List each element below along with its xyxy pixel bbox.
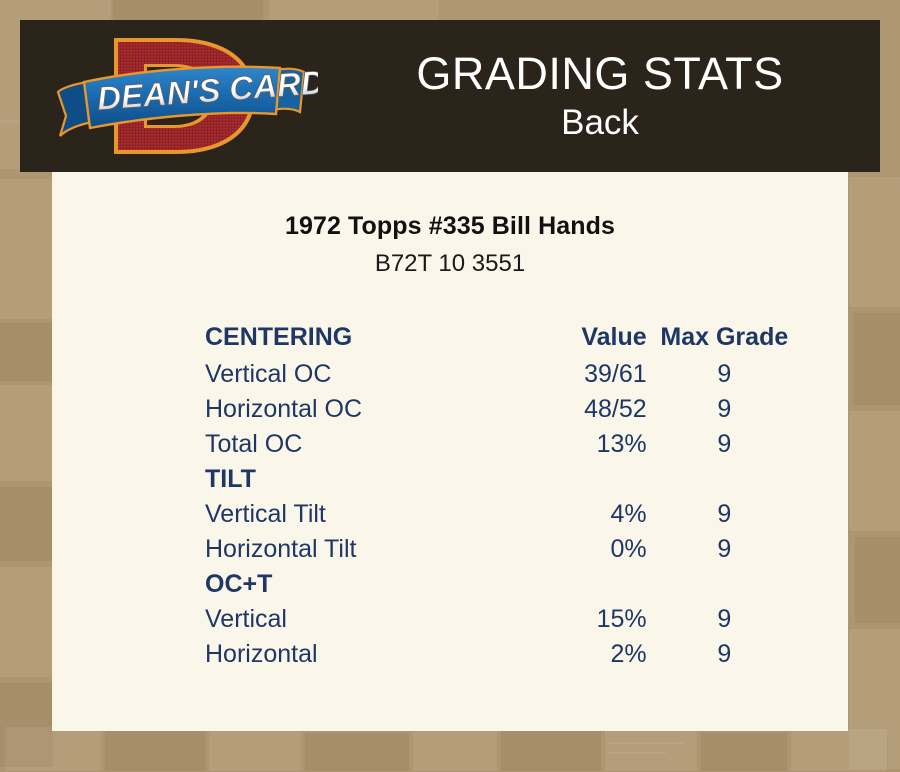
row-value: 4% <box>519 497 647 532</box>
grading-stats-table: CENTERING Value Max Grade Vertical OC 39… <box>52 317 848 672</box>
table-row: Vertical OC 39/61 9 <box>52 357 848 392</box>
row-grade: 9 <box>647 497 848 532</box>
row-value: 48/52 <box>519 392 647 427</box>
section-label: TILT <box>52 462 519 497</box>
column-header-max-grade: Max Grade <box>647 317 848 357</box>
section-label: OC+T <box>52 567 519 602</box>
page-title: GRADING STATS <box>416 48 783 100</box>
row-label: Vertical Tilt <box>52 497 519 532</box>
table-row: Horizontal Tilt 0% 9 <box>52 532 848 567</box>
row-grade: 9 <box>647 532 848 567</box>
row-value: 39/61 <box>519 357 647 392</box>
deans-cards-logo[interactable]: DEAN'S CARDS <box>48 26 318 166</box>
row-label: Vertical OC <box>52 357 519 392</box>
section-header-oc-plus-t: OC+T <box>52 567 848 602</box>
section-spacer-grade <box>647 462 848 497</box>
row-grade: 9 <box>647 357 848 392</box>
page-header: DEAN'S CARDS GRADING STATS Back <box>20 20 880 172</box>
table-row: Vertical Tilt 4% 9 <box>52 497 848 532</box>
card-title: 1972 Topps #335 Bill Hands <box>52 212 848 241</box>
row-label: Horizontal <box>52 637 519 672</box>
section-spacer-value <box>519 462 647 497</box>
row-label: Vertical <box>52 602 519 637</box>
section-spacer-value <box>519 567 647 602</box>
page-subtitle: Back <box>561 102 639 144</box>
column-header-centering: CENTERING <box>52 317 519 357</box>
column-header-value: Value <box>519 317 647 357</box>
table-row: Horizontal OC 48/52 9 <box>52 392 848 427</box>
row-value: 2% <box>519 637 647 672</box>
row-value: 13% <box>519 427 647 462</box>
row-label: Total OC <box>52 427 519 462</box>
table-row: Vertical 15% 9 <box>52 602 848 637</box>
row-label: Horizontal OC <box>52 392 519 427</box>
row-value: 0% <box>519 532 647 567</box>
row-grade: 9 <box>647 602 848 637</box>
grading-stats-page: DEAN'S CARDS GRADING STATS Back 1972 Top… <box>0 0 900 760</box>
table-row: Total OC 13% 9 <box>52 427 848 462</box>
row-label: Horizontal Tilt <box>52 532 519 567</box>
table-row: Horizontal 2% 9 <box>52 637 848 672</box>
content-panel: 1972 Topps #335 Bill Hands B72T 10 3551 … <box>52 172 848 731</box>
row-grade: 9 <box>647 427 848 462</box>
table-header-row: CENTERING Value Max Grade <box>52 317 848 357</box>
card-sku: B72T 10 3551 <box>52 250 848 278</box>
row-grade: 9 <box>647 392 848 427</box>
section-header-tilt: TILT <box>52 462 848 497</box>
row-value: 15% <box>519 602 647 637</box>
section-spacer-grade <box>647 567 848 602</box>
row-grade: 9 <box>647 637 848 672</box>
